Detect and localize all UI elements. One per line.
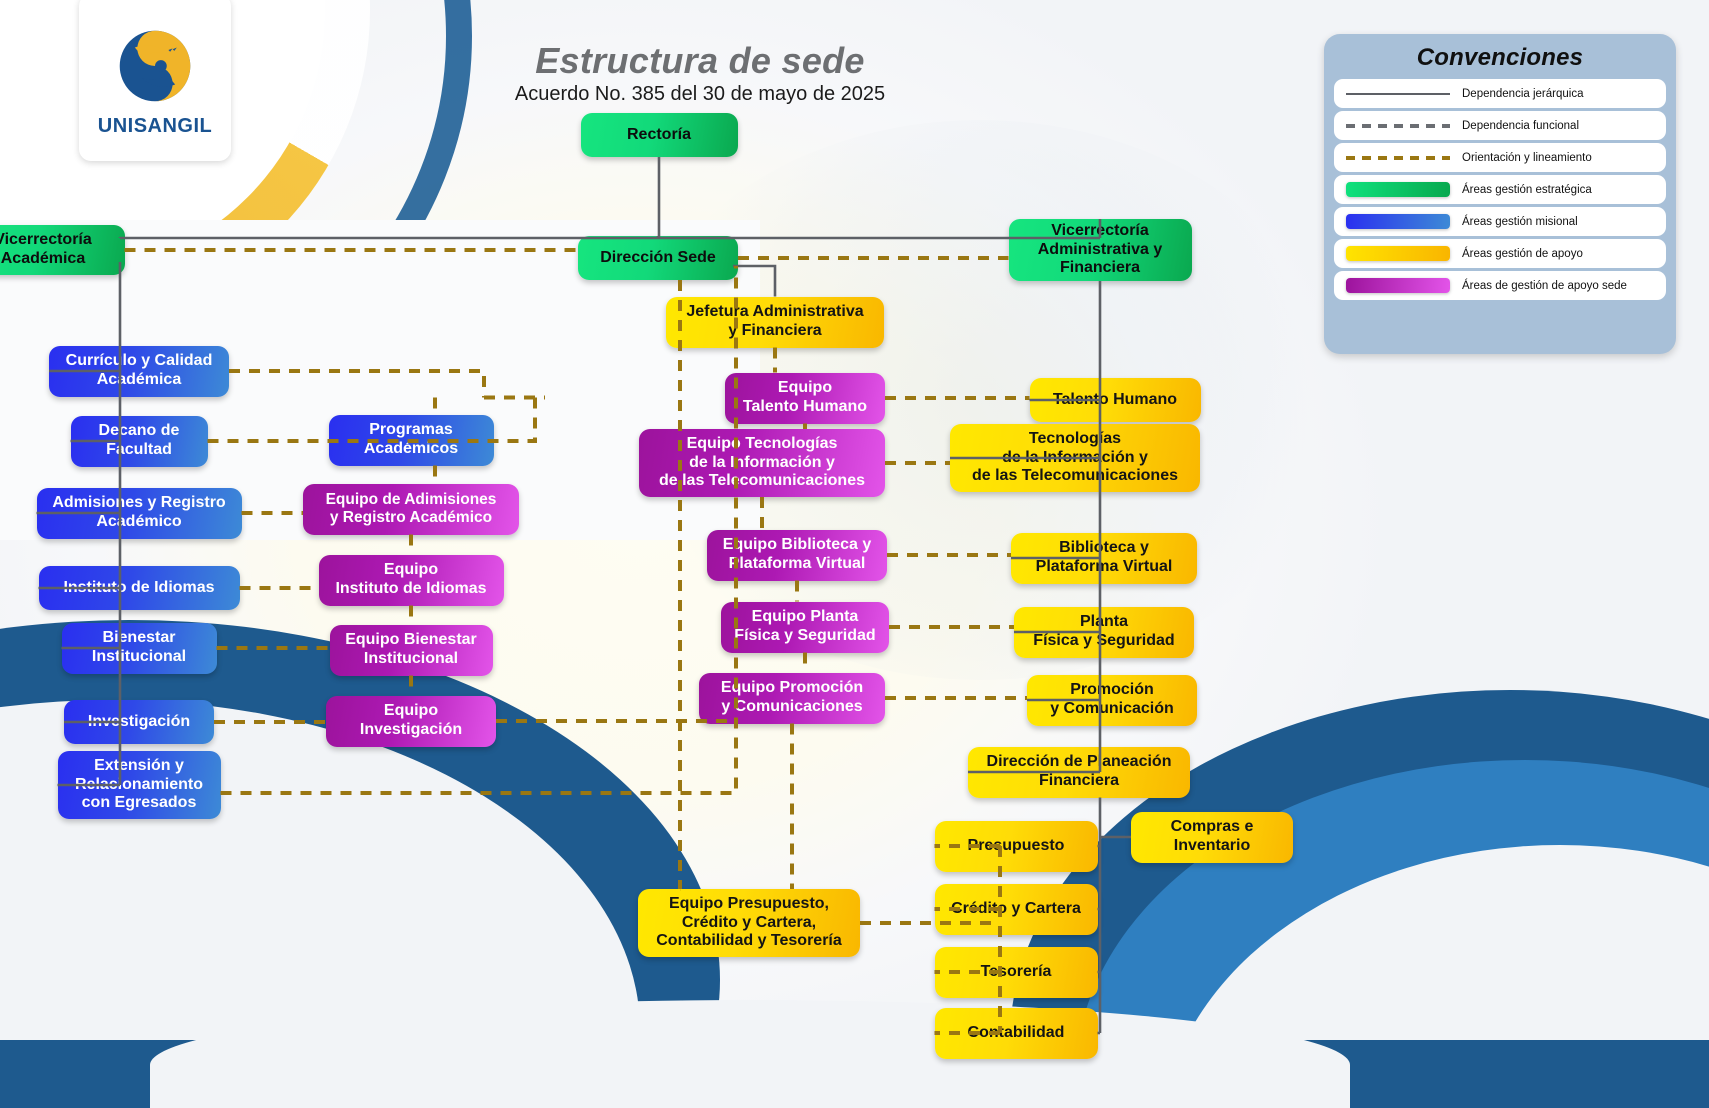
legend-swatch-green-bar	[1346, 182, 1450, 197]
org-node-eq-promocion[interactable]: Equipo Promocióny Comunicaciones	[699, 673, 885, 724]
legend-swatch-icon	[1342, 246, 1454, 261]
org-node-talento[interactable]: Talento Humano	[1030, 378, 1201, 422]
org-node-label: PlantaFísica y Seguridad	[1033, 613, 1174, 650]
org-node-bienestar[interactable]: BienestarInstitucional	[62, 623, 217, 674]
org-node-programas[interactable]: ProgramasAcadémicos	[329, 415, 494, 466]
org-node-tesoreria[interactable]: Tesorería	[935, 947, 1098, 998]
org-node-decano[interactable]: Decano deFacultad	[71, 416, 208, 467]
legend-swatch-blue-bar	[1346, 214, 1450, 229]
legend-swatch-dashed-gray-line	[1346, 124, 1450, 128]
org-node-label: Tesorería	[981, 963, 1052, 982]
legend-item-label: Orientación y lineamiento	[1462, 152, 1592, 164]
legend-item-label: Áreas de gestión de apoyo sede	[1462, 280, 1627, 292]
org-node-compras[interactable]: Compras eInventario	[1131, 812, 1293, 863]
legend-item-label: Áreas gestión estratégica	[1462, 184, 1592, 196]
org-node-eq-presupuesto[interactable]: Equipo Presupuesto,Crédito y Cartera,Con…	[638, 889, 860, 957]
legend-item: Áreas de gestión de apoyo sede	[1334, 271, 1666, 300]
org-node-label: Investigación	[88, 713, 190, 732]
org-node-label: Equipo Tecnologíasde la Información yde …	[659, 435, 865, 491]
org-node-admisiones[interactable]: Admisiones y RegistroAcadémico	[37, 488, 242, 539]
org-node-label: BienestarInstitucional	[92, 629, 186, 666]
legend-swatch-icon	[1342, 214, 1454, 229]
org-node-eq-admisiones[interactable]: Equipo de Adimisionesy Registro Académic…	[303, 484, 519, 535]
org-node-eq-investigacion[interactable]: EquipoInvestigación	[326, 696, 496, 747]
org-node-tic[interactable]: Tecnologíasde la Información yde las Tel…	[950, 424, 1200, 492]
org-node-contabilidad[interactable]: Contabilidad	[935, 1008, 1098, 1059]
legend-item-label: Áreas gestión de apoyo	[1462, 248, 1583, 260]
unisangil-logo-icon	[113, 24, 197, 108]
legend-item-label: Áreas gestión misional	[1462, 216, 1578, 228]
legend-swatch-icon	[1342, 182, 1454, 197]
org-node-label: EquipoTalento Humano	[743, 379, 867, 416]
org-node-label: Equipo Presupuesto,Crédito y Cartera,Con…	[656, 895, 842, 951]
org-node-eq-idiomas[interactable]: EquipoInstituto de Idiomas	[319, 555, 504, 606]
org-node-jefatura[interactable]: Jefetura Administrativay Financiera	[666, 297, 884, 348]
legend-item-label: Dependencia funcional	[1462, 120, 1579, 132]
legend-swatch-purple-bar	[1346, 278, 1450, 293]
org-node-rectoria[interactable]: Rectoría	[581, 113, 738, 157]
org-node-label: Currículo y CalidadAcadémica	[66, 352, 213, 389]
org-node-label: EquipoInstituto de Idiomas	[335, 561, 486, 598]
org-node-promocion[interactable]: Promocióny Comunicación	[1027, 675, 1197, 726]
org-node-label: Biblioteca yPlataforma Virtual	[1036, 539, 1173, 576]
legend-item: Áreas gestión de apoyo	[1334, 239, 1666, 268]
org-node-eq-planta[interactable]: Equipo PlantaFísica y Seguridad	[721, 602, 889, 653]
org-node-planta[interactable]: PlantaFísica y Seguridad	[1014, 607, 1194, 658]
org-node-label: Compras eInventario	[1171, 818, 1254, 855]
org-node-label: Promocióny Comunicación	[1050, 681, 1174, 718]
legend-swatch-yellow-bar	[1346, 246, 1450, 261]
org-node-idiomas[interactable]: Instituto de Idiomas	[39, 566, 240, 610]
org-node-label: Rectoría	[627, 126, 691, 145]
org-node-label: Contabilidad	[968, 1024, 1065, 1043]
org-node-label: Equipo Promocióny Comunicaciones	[721, 679, 863, 716]
legend-swatch-solid-gray-line	[1346, 93, 1450, 95]
page-title: Estructura de sede	[385, 40, 1015, 82]
org-node-direccion-sede[interactable]: Dirección Sede	[578, 236, 738, 280]
org-node-label: VicerrectoríaAdministrativa yFinanciera	[1038, 222, 1162, 278]
legend-item: Áreas gestión estratégica	[1334, 175, 1666, 204]
org-node-curriculo[interactable]: Currículo y CalidadAcadémica	[49, 346, 229, 397]
org-node-extension[interactable]: Extensión yRelacionamientocon Egresados	[58, 751, 221, 819]
org-node-label: Equipo de Adimisionesy Registro Académic…	[326, 491, 497, 527]
org-node-label: Equipo PlantaFísica y Seguridad	[734, 608, 875, 645]
org-node-label: Decano deFacultad	[99, 422, 180, 459]
org-node-eq-tic[interactable]: Equipo Tecnologíasde la Información yde …	[639, 429, 885, 497]
legend-swatch-dashed-gold-line	[1346, 156, 1450, 160]
org-node-label: VicerrectoríaAcadémica	[0, 231, 92, 268]
brand-logo-card: UNISANGIL	[79, 0, 231, 161]
legend-item-label: Dependencia jerárquica	[1462, 88, 1583, 100]
org-node-planeacion[interactable]: Dirección de PlaneaciónFinanciera	[968, 747, 1190, 798]
org-node-presupuesto[interactable]: Presupuesto	[935, 821, 1098, 872]
legend-item: Áreas gestión misional	[1334, 207, 1666, 236]
org-node-label: Jefetura Administrativay Financiera	[686, 303, 863, 340]
org-node-eq-bienestar[interactable]: Equipo BienestarInstitucional	[330, 625, 493, 676]
legend-panel: Convenciones Dependencia jerárquicaDepen…	[1324, 34, 1676, 354]
org-node-label: Dirección de PlaneaciónFinanciera	[987, 753, 1172, 790]
org-node-eq-biblioteca[interactable]: Equipo Biblioteca yPlataforma Virtual	[707, 530, 887, 581]
legend-item: Dependencia jerárquica	[1334, 79, 1666, 108]
org-node-label: ProgramasAcadémicos	[364, 421, 458, 458]
org-node-label: Crédito y Cartera	[951, 900, 1081, 919]
org-node-eq-talento[interactable]: EquipoTalento Humano	[725, 373, 885, 424]
legend-item: Orientación y lineamiento	[1334, 143, 1666, 172]
org-node-label: EquipoInvestigación	[360, 702, 462, 739]
org-node-label: Admisiones y RegistroAcadémico	[52, 494, 225, 531]
legend-swatch-icon	[1342, 278, 1454, 293]
brand-name: UNISANGIL	[98, 115, 213, 138]
org-node-label: Tecnologíasde la Información yde las Tel…	[972, 430, 1178, 486]
org-node-label: Equipo BienestarInstitucional	[345, 631, 477, 668]
legend-swatch-icon	[1342, 93, 1454, 95]
org-node-label: Instituto de Idiomas	[63, 579, 214, 598]
org-node-investigacion[interactable]: Investigación	[64, 700, 214, 744]
org-node-label: Extensión yRelacionamientocon Egresados	[75, 757, 203, 813]
org-node-label: Presupuesto	[968, 837, 1065, 856]
org-node-label: Equipo Biblioteca yPlataforma Virtual	[723, 536, 871, 573]
legend-swatch-icon	[1342, 124, 1454, 128]
legend-item: Dependencia funcional	[1334, 111, 1666, 140]
legend-swatch-icon	[1342, 156, 1454, 160]
org-node-biblioteca[interactable]: Biblioteca yPlataforma Virtual	[1011, 533, 1197, 584]
org-node-vic-admin-fin[interactable]: VicerrectoríaAdministrativa yFinanciera	[1009, 219, 1192, 281]
org-node-label: Dirección Sede	[600, 249, 716, 268]
org-node-label: Talento Humano	[1053, 391, 1177, 410]
legend-title: Convenciones	[1334, 44, 1666, 72]
org-node-vic-academica[interactable]: VicerrectoríaAcadémica	[0, 225, 125, 275]
legend-rows: Dependencia jerárquicaDependencia funcio…	[1334, 79, 1666, 300]
org-node-credito[interactable]: Crédito y Cartera	[935, 884, 1098, 935]
page-subtitle: Acuerdo No. 385 del 30 de mayo de 2025	[385, 83, 1015, 106]
